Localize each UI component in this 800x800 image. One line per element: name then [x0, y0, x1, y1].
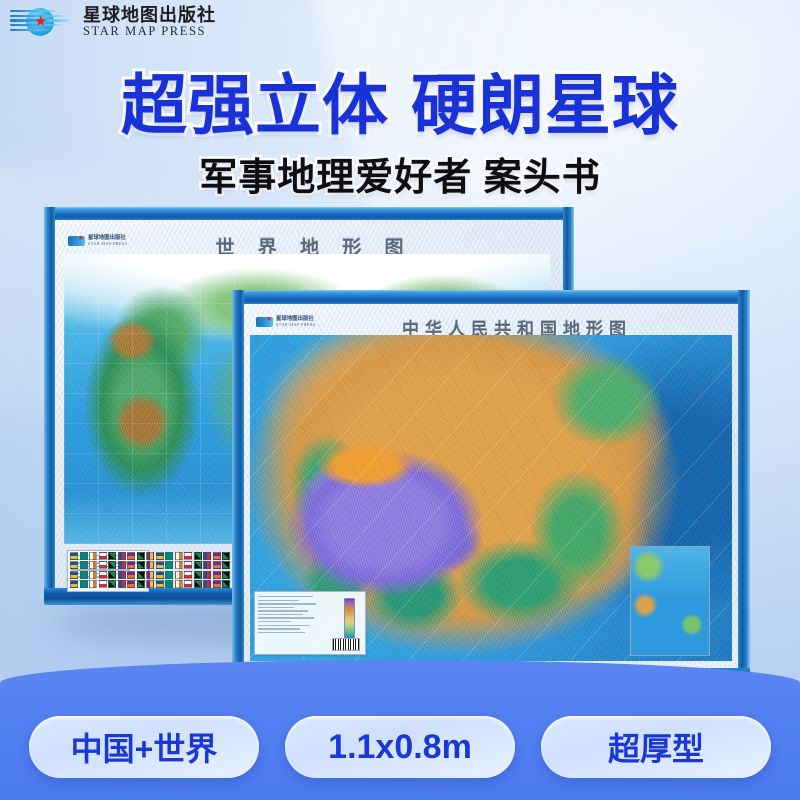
- country-flag-swatch: [175, 552, 183, 560]
- country-flag-swatch: [108, 561, 116, 569]
- country-flag-swatch: [203, 571, 211, 579]
- country-flag-swatch: [222, 552, 230, 560]
- country-flag-swatch: [108, 580, 116, 588]
- size-badge[interactable]: 1.1x0.8m: [285, 716, 515, 778]
- country-flag-swatch: [165, 571, 173, 579]
- country-flag-swatch: [194, 580, 202, 588]
- country-flag-swatch: [184, 580, 192, 588]
- china-frame-left-rail: [232, 290, 244, 686]
- country-flag-swatch: [127, 561, 135, 569]
- country-flag-swatch: [213, 561, 221, 569]
- china-map-publisher-badge: 星球地图出版社 STAR MAP PRESS: [256, 317, 315, 327]
- country-flag-swatch: [137, 561, 145, 569]
- country-flag-swatch: [70, 552, 78, 560]
- country-flag-swatch: [213, 552, 221, 560]
- country-flag-swatch: [203, 561, 211, 569]
- red-star-icon: ★: [34, 14, 47, 29]
- country-flag-swatch: [118, 580, 126, 588]
- world-map-flag-grid-visible: [70, 552, 240, 588]
- world-map-publisher-badge: 星球地图出版社 STAR MAP PRESS: [68, 236, 127, 246]
- china-map-product[interactable]: 中华人民共和国地形图 星球地图出版社 STAR MAP PRESS: [232, 290, 750, 686]
- country-flag-swatch: [156, 552, 164, 560]
- country-flag-swatch: [156, 561, 164, 569]
- country-flag-swatch: [80, 580, 88, 588]
- country-flag-swatch: [99, 580, 107, 588]
- country-flag-swatch: [146, 561, 154, 569]
- country-flag-swatch: [89, 571, 97, 579]
- country-flag-swatch: [165, 580, 173, 588]
- bottom-feature-panel: 中国+世界 1.1x0.8m 超厚型: [0, 660, 800, 800]
- country-flag-swatch: [99, 571, 107, 579]
- country-flag-swatch: [146, 552, 154, 560]
- country-flag-swatch: [175, 561, 183, 569]
- china-frame-top-rail: [232, 290, 750, 304]
- country-flag-swatch: [213, 580, 221, 588]
- country-flag-swatch: [184, 561, 192, 569]
- country-flag-swatch: [70, 561, 78, 569]
- country-flag-swatch: [175, 580, 183, 588]
- publisher-name-cn: 星球地图出版社: [83, 6, 216, 25]
- country-flag-swatch: [137, 552, 145, 560]
- world-frame-top-rail: [44, 207, 574, 220]
- country-flag-swatch: [165, 552, 173, 560]
- country-flag-swatch: [89, 580, 97, 588]
- page-headline: 超强立体硬朗星球: [0, 52, 800, 148]
- page-subheadline: 军事地理爱好者 案头书: [0, 146, 800, 201]
- country-flag-swatch: [194, 561, 202, 569]
- country-flag-swatch: [137, 580, 145, 588]
- country-flag-swatch: [80, 561, 88, 569]
- country-flag-swatch: [194, 552, 202, 560]
- country-flag-swatch: [80, 571, 88, 579]
- country-flag-swatch: [146, 571, 154, 579]
- product-advertisement-poster: ★ 星球地图出版社 STAR MAP PRESS 超强立体硬朗星球 军事地理爱好…: [0, 0, 800, 800]
- country-flag-swatch: [222, 580, 230, 588]
- publisher-logo: ★ 星球地图出版社 STAR MAP PRESS: [10, 6, 216, 38]
- country-flag-swatch: [127, 552, 135, 560]
- country-flag-swatch: [184, 571, 192, 579]
- country-flag-swatch: [213, 571, 221, 579]
- feature-badge-row: 中国+世界 1.1x0.8m 超厚型: [0, 716, 800, 778]
- country-flag-swatch: [118, 571, 126, 579]
- country-flag-swatch: [118, 552, 126, 560]
- country-flag-swatch: [127, 580, 135, 588]
- country-flag-swatch: [70, 580, 78, 588]
- country-flag-swatch: [165, 561, 173, 569]
- country-flag-swatch: [156, 571, 164, 579]
- world-frame-left-rail: [44, 207, 55, 605]
- country-flag-swatch: [89, 552, 97, 560]
- country-flag-swatch: [175, 571, 183, 579]
- country-flag-swatch: [108, 552, 116, 560]
- barcode: [332, 638, 360, 651]
- publisher-name-en: STAR MAP PRESS: [83, 25, 216, 38]
- country-flag-swatch: [99, 561, 107, 569]
- country-flag-swatch: [118, 561, 126, 569]
- country-flag-swatch: [194, 571, 202, 579]
- headline-part-1: 超强立体: [121, 68, 389, 142]
- country-flag-swatch: [146, 580, 154, 588]
- coverage-badge[interactable]: 中国+世界: [29, 716, 259, 778]
- star-globe-logo-icon: ★: [10, 7, 74, 37]
- country-flag-swatch: [184, 552, 192, 560]
- china-frame-right-rail: [738, 290, 750, 686]
- country-flag-swatch: [203, 580, 211, 588]
- country-flag-swatch: [70, 571, 78, 579]
- country-flag-swatch: [108, 571, 116, 579]
- country-flag-swatch: [127, 571, 135, 579]
- south-china-sea-inset-map: [630, 546, 710, 656]
- thickness-badge[interactable]: 超厚型: [541, 716, 771, 778]
- country-flag-swatch: [222, 561, 230, 569]
- elevation-color-scale: [344, 598, 355, 642]
- country-flag-swatch: [80, 552, 88, 560]
- country-flag-swatch: [89, 561, 97, 569]
- china-map-legend: [254, 591, 366, 655]
- country-flag-swatch: [222, 571, 230, 579]
- country-flag-swatch: [203, 552, 211, 560]
- country-flag-swatch: [156, 580, 164, 588]
- country-flag-swatch: [137, 571, 145, 579]
- headline-part-2: 硬朗星球: [411, 68, 679, 142]
- country-flag-swatch: [99, 552, 107, 560]
